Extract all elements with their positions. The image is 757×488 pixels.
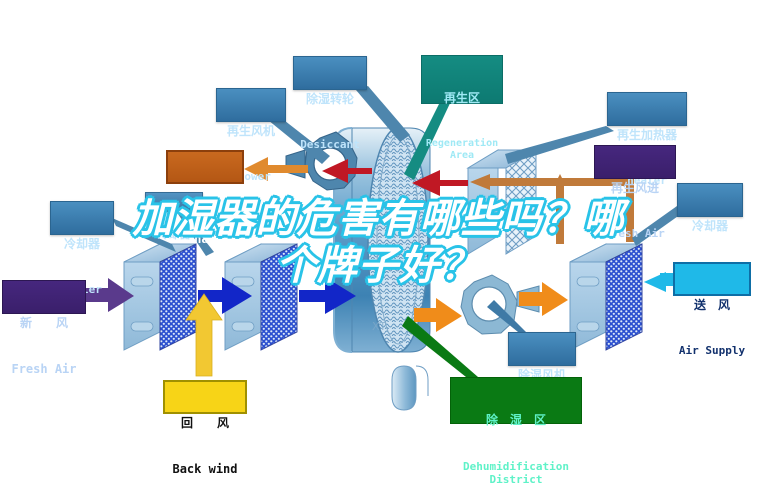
label-cooler-left-1[interactable]: 冷却器 Cooler bbox=[50, 201, 114, 235]
label-dehum-district-cn: 除 湿 区 bbox=[451, 414, 581, 427]
label-cooler-left-1-cn: 冷却器 bbox=[51, 238, 113, 251]
label-regen-area-cn: 再生区 bbox=[422, 92, 502, 105]
label-air-supply[interactable]: 送 风 Air Supply bbox=[673, 262, 751, 296]
label-regen-heater[interactable]: 再生加热器 heater bbox=[607, 92, 687, 126]
label-fresh-air-left-en: Fresh Air bbox=[3, 363, 85, 376]
label-air-supply-cn: 送 风 bbox=[675, 299, 749, 312]
label-regen-area[interactable]: 再生区 Regeneration Area bbox=[421, 55, 503, 104]
label-fresh-air-left-cn: 新 风 bbox=[3, 317, 85, 330]
svg-text:XT: XT bbox=[372, 320, 386, 333]
drain-pan bbox=[392, 366, 428, 410]
label-dehum-district[interactable]: 除 湿 区 Dehumidification District bbox=[450, 377, 582, 424]
label-cooler-right-cn: 冷却器 bbox=[678, 220, 742, 233]
label-regen-fresh-air[interactable]: 再生风进 Fresh Air bbox=[594, 145, 676, 179]
label-cooler-left-2[interactable]: 冷却器 bbox=[145, 192, 203, 212]
label-regen-heater-cn: 再生加热器 bbox=[608, 129, 686, 142]
label-regen-area-en: Regeneration Area bbox=[422, 138, 502, 162]
label-back-wind-en: Back wind bbox=[165, 463, 245, 476]
label-back-wind-cn: 回 风 bbox=[165, 417, 245, 430]
label-desiccant-wheel-cn: 除湿转轮 bbox=[294, 93, 366, 106]
label-desiccant-wheel[interactable]: 除湿转轮 Desiccant bbox=[293, 56, 367, 90]
label-cooler-right[interactable]: 冷却器 Cooler bbox=[677, 183, 743, 217]
label-regen-blower[interactable]: 再生风机 Blower bbox=[216, 88, 286, 122]
label-air-supply-en: Air Supply bbox=[675, 345, 749, 357]
label-dehum-blower[interactable]: 除湿风机 Blower bbox=[508, 332, 576, 366]
diagram-canvas: XT bbox=[0, 0, 757, 488]
label-dehum-district-en: Dehumidification District bbox=[451, 460, 581, 486]
label-back-wind[interactable]: 回 风 Back wind bbox=[163, 380, 247, 414]
label-desiccant-wheel-en: Desiccant bbox=[294, 139, 366, 151]
label-cooler-left-2-cn: 冷却器 bbox=[146, 229, 202, 241]
supply-duct-shell bbox=[430, 215, 470, 356]
label-regen-blower-cn: 再生风机 bbox=[217, 125, 285, 138]
label-regen-fresh-air-cn: 再生风进 bbox=[595, 182, 675, 195]
dry-air-arrow-2 bbox=[519, 282, 568, 316]
label-exhaust[interactable]: 再生风出 Exhaust bbox=[166, 150, 244, 184]
label-fresh-air-left[interactable]: 新 风 Fresh Air bbox=[2, 280, 86, 314]
label-regen-fresh-air-en: Fresh Air bbox=[595, 228, 675, 240]
